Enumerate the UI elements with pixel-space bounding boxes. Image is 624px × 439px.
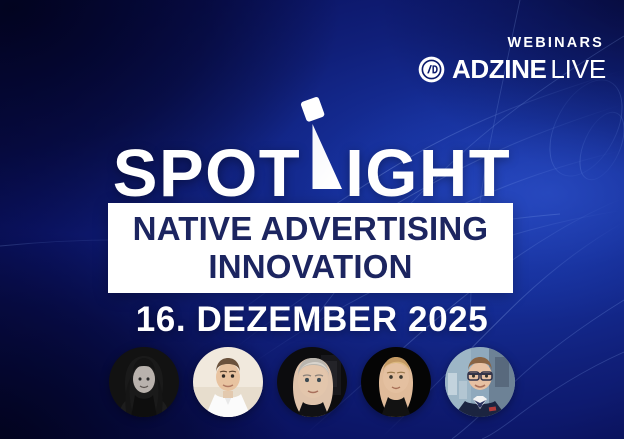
avatar[interactable]: [109, 347, 179, 417]
avatar[interactable]: [277, 347, 347, 417]
speaker-portrait-1: [109, 347, 179, 417]
speaker-portrait-3: [277, 347, 347, 417]
subtitle-box: NATIVE ADVERTISING INNOVATION: [108, 203, 513, 293]
brand-name-adzine: ADZINE: [452, 56, 546, 82]
headline-inner: SPOT IGHT: [113, 130, 511, 207]
webinars-eyebrow: WEBINARS: [507, 36, 604, 51]
brand-name-live: LIVE: [550, 56, 606, 82]
webinar-banner: WEBINARS ADZINE LIVE SPOT: [0, 0, 624, 439]
headline-part-two: IGHT: [345, 141, 511, 207]
speaker-avatar-row: [0, 347, 624, 417]
brand-logo-block: WEBINARS ADZINE LIVE: [418, 36, 606, 83]
subtitle-line-2: INNOVATION: [208, 248, 412, 286]
brand-wordmark: ADZINE LIVE: [452, 56, 606, 82]
headline-beam-slot: [301, 130, 345, 196]
headline-part-one: SPOT: [113, 141, 301, 207]
adzine-live-logo: ADZINE LIVE: [418, 56, 606, 83]
avatar[interactable]: [445, 347, 515, 417]
subtitle-line-1: NATIVE ADVERTISING: [133, 210, 489, 248]
speaker-portrait-5: [445, 347, 515, 417]
spotlight-beam-icon: [295, 96, 357, 200]
speaker-portrait-4: [361, 347, 431, 417]
adzine-circle-ad-monogram-icon: [418, 56, 445, 83]
event-date: 16. DEZEMBER 2025: [0, 300, 624, 340]
page-title: SPOT IGHT: [0, 130, 624, 207]
avatar[interactable]: [361, 347, 431, 417]
speaker-portrait-2: [193, 347, 263, 417]
avatar[interactable]: [193, 347, 263, 417]
